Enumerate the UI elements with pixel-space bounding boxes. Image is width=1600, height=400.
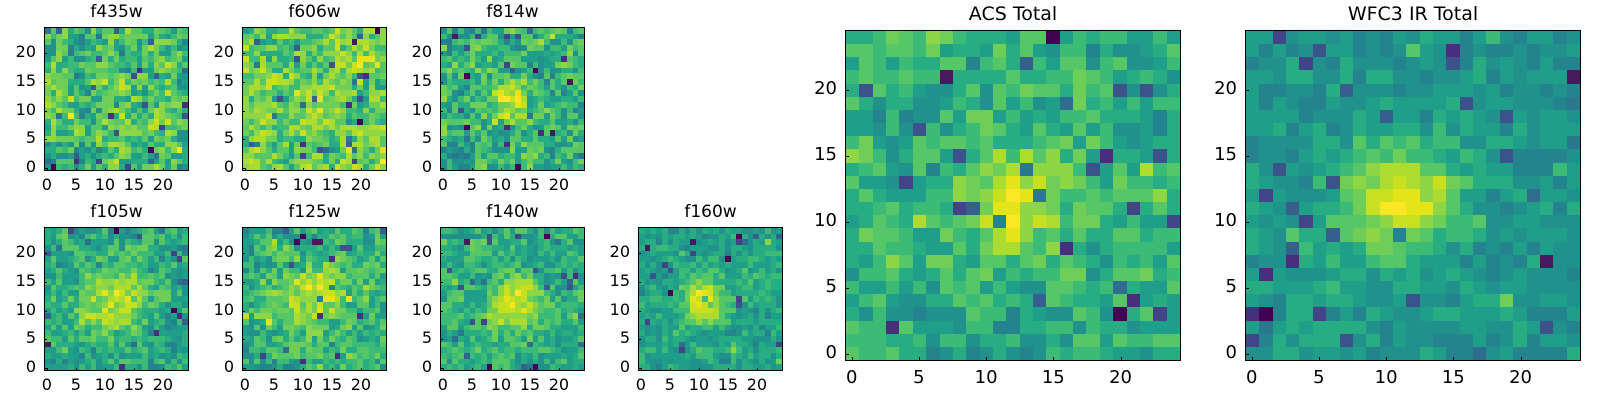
x-tick-mark <box>1319 357 1320 361</box>
x-tick-mark <box>1252 357 1253 361</box>
x-tick-mark <box>1453 357 1454 361</box>
y-tick-label: 20 <box>1177 80 1237 98</box>
x-tick-mark <box>1386 357 1387 361</box>
y-tick-mark <box>1245 288 1249 289</box>
y-tick-mark <box>1245 222 1249 223</box>
y-tick-label: 0 <box>1177 344 1237 362</box>
x-tick-label: 20 <box>1491 369 1551 387</box>
matplotlib-figure: f435w0510152005101520 f606w0510152005101… <box>0 0 1600 400</box>
heatmap-image <box>1246 31 1580 360</box>
y-tick-label: 15 <box>1177 146 1237 164</box>
y-tick-mark <box>1245 156 1249 157</box>
y-tick-label: 5 <box>1177 278 1237 296</box>
y-tick-mark <box>1245 90 1249 91</box>
panel-title: WFC3 IR Total <box>1245 5 1581 24</box>
y-tick-mark <box>1245 354 1249 355</box>
y-tick-label: 10 <box>1177 212 1237 230</box>
x-tick-mark <box>1521 357 1522 361</box>
plot-axes <box>1245 30 1581 361</box>
panel-wfc3-ir-total: WFC3 IR Total0510152005101520 <box>0 0 1600 400</box>
x-tick-label: 5 <box>1289 369 1349 387</box>
x-tick-label: 15 <box>1423 369 1483 387</box>
x-tick-label: 0 <box>1222 369 1282 387</box>
x-tick-label: 10 <box>1356 369 1416 387</box>
